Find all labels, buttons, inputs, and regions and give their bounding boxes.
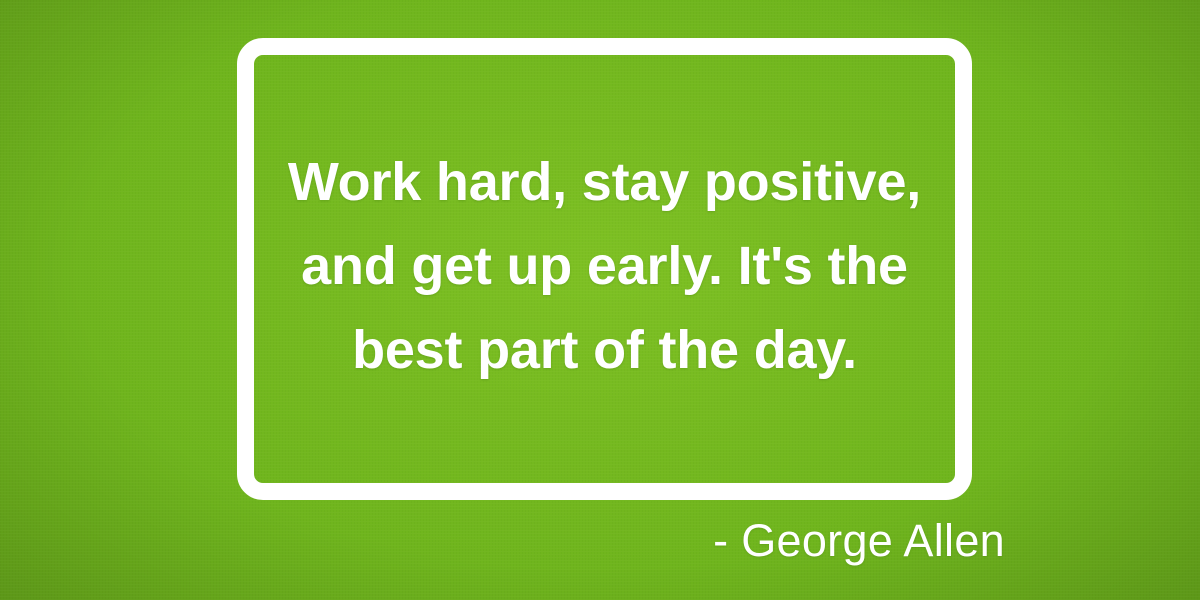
quote-text: Work hard, stay positive, and get up ear… bbox=[252, 140, 957, 392]
quote-attribution: - George Allen bbox=[0, 512, 1005, 570]
quote-card: Work hard, stay positive, and get up ear… bbox=[0, 0, 1200, 600]
quote-line-3: best part of the day. bbox=[252, 308, 957, 392]
quote-line-1: Work hard, stay positive, bbox=[252, 140, 957, 224]
quote-line-2: and get up early. It's the bbox=[252, 224, 957, 308]
